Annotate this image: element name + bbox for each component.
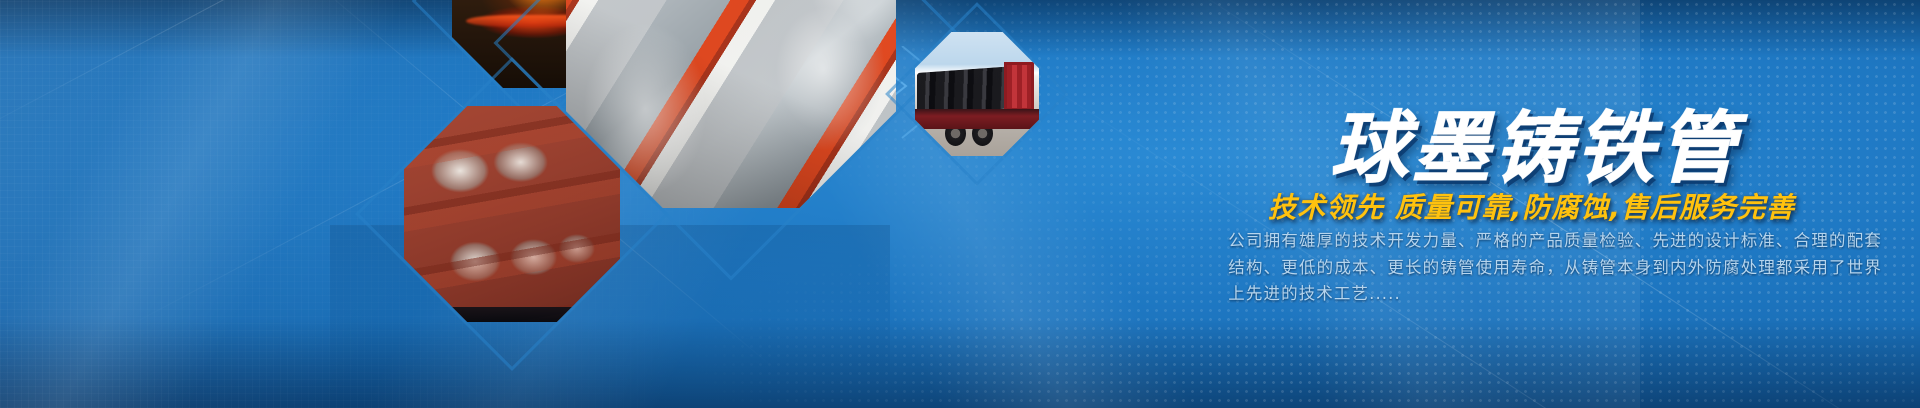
truck-wheel [972,121,993,146]
banner-description-text: 公司拥有雄厚的技术开发力量、严格的产品质量检验、先进的设计标准、合理的配套结构、… [1192,228,1882,308]
truck-rack [1004,62,1034,112]
truck-wheel [945,121,966,146]
product-banner: 球墨铸铁管 技术领先 质量可靠,防腐蚀,售后服务完善 公司拥有雄厚的技术开发力量… [0,0,1920,408]
stacked-red-pipes-photo [404,106,620,322]
banner-subtitle: 技术领先 质量可靠,防腐蚀,售后服务完善 [1268,186,1795,226]
loaded-truck-photo [915,32,1039,156]
banner-description: 公司拥有雄厚的技术开发力量、严格的产品质量检验、先进的设计标准、合理的配套结构、… [1192,228,1882,308]
page-title: 球墨铸铁管 [1330,86,1740,198]
banner-copy: 球墨铸铁管 技术领先 质量可靠,防腐蚀,售后服务完善 公司拥有雄厚的技术开发力量… [1140,0,1920,408]
